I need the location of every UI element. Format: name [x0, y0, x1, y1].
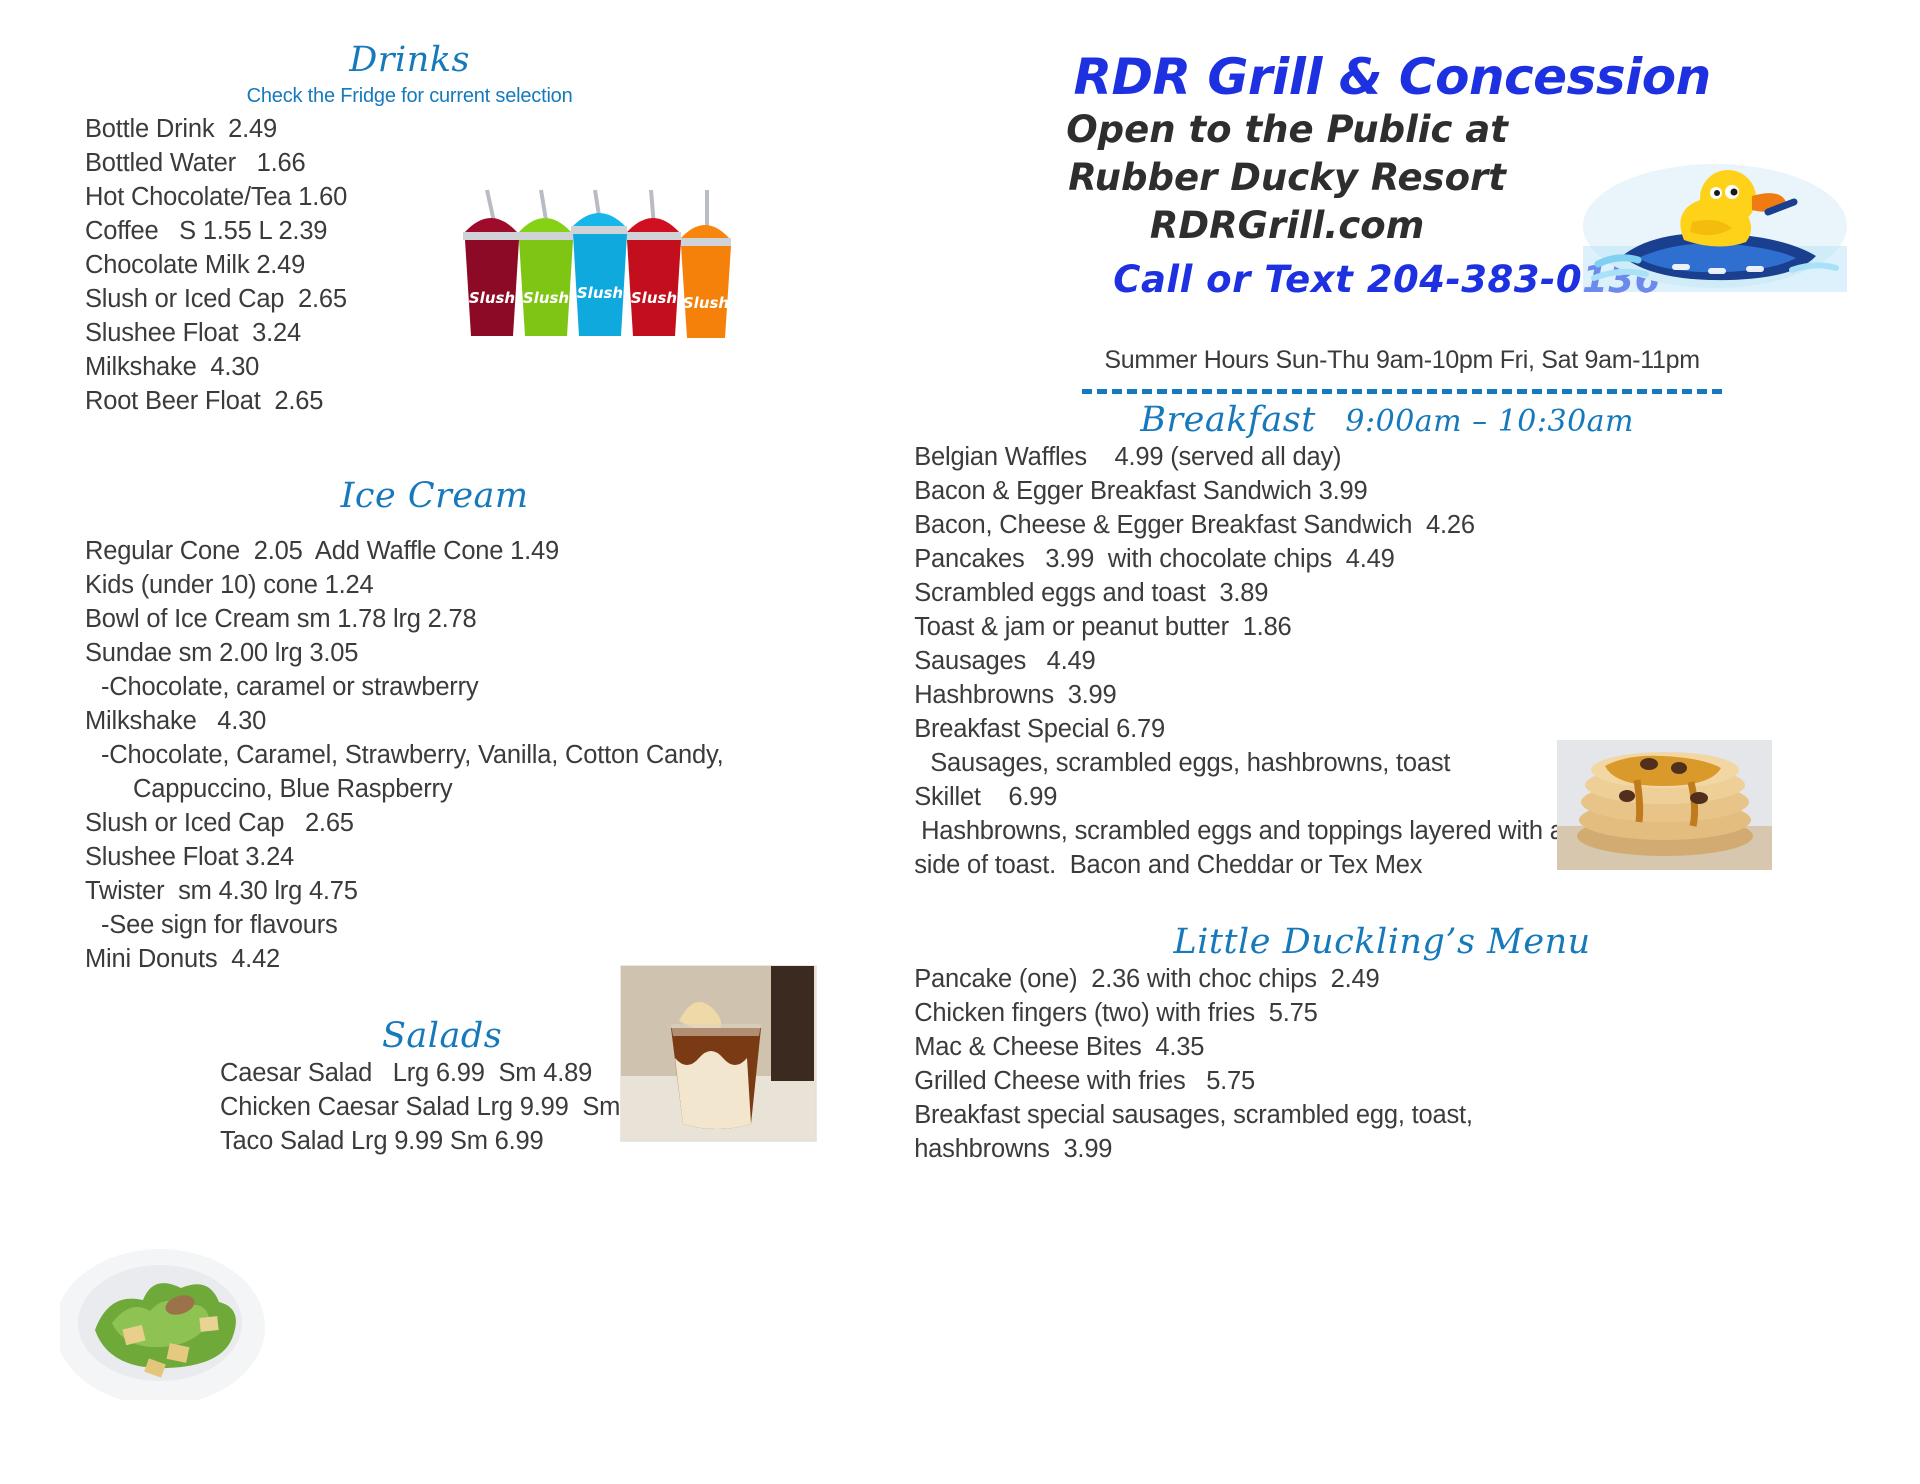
list-item: Sausages 4.49 [914, 644, 1890, 678]
list-item: -See sign for flavours [85, 908, 904, 942]
list-item: Root Beer Float 2.65 [85, 384, 904, 418]
ice-cream-section-header: Ice Cream [85, 476, 904, 516]
list-item: Bottle Drink 2.49 [85, 112, 904, 146]
list-item: Toast & jam or peanut butter 1.86 [914, 610, 1890, 644]
list-item: hashbrowns 3.99 [914, 1132, 1890, 1166]
list-item: Kids (under 10) cone 1.24 [85, 568, 904, 602]
list-item: Grilled Cheese with fries 5.75 [914, 1064, 1890, 1098]
list-item: Pancakes 3.99 with chocolate chips 4.49 [914, 542, 1890, 576]
section-divider [1082, 389, 1722, 394]
summer-hours: Summer Hours Sun-Thu 9am-10pm Fri, Sat 9… [914, 346, 1890, 375]
left-column: Drinks Check the Fridge for current sele… [30, 40, 904, 1464]
list-item: Bowl of Ice Cream sm 1.78 lrg 2.78 [85, 602, 904, 636]
list-item: Regular Cone 2.05 Add Waffle Cone 1.49 [85, 534, 904, 568]
rubber-duck-icon [1580, 160, 1850, 295]
list-item: Bacon, Cheese & Egger Breakfast Sandwich… [914, 508, 1890, 542]
list-item: Twister sm 4.30 lrg 4.75 [85, 874, 904, 908]
list-item: Slushee Float 3.24 [85, 840, 904, 874]
brand-header: RDR Grill & Concession Open to the Publi… [914, 40, 1890, 338]
svg-text:Slush: Slush [577, 284, 623, 302]
right-column: RDR Grill & Concession Open to the Publi… [904, 40, 1890, 1464]
breakfast-section-header: Breakfast 9:00am – 10:30am [914, 400, 1890, 440]
list-item: Breakfast special sausages, scrambled eg… [914, 1098, 1890, 1132]
breakfast-heading: Breakfast [1140, 400, 1316, 440]
list-item: -Chocolate, Caramel, Strawberry, Vanilla… [85, 738, 904, 772]
drinks-section-header: Drinks Check the Fridge for current sele… [85, 40, 904, 108]
list-item: Milkshake 4.30 [85, 350, 904, 384]
list-item: -Chocolate, caramel or strawberry [85, 670, 904, 704]
list-item: Cappuccino, Blue Raspberry [85, 772, 904, 806]
twister-sundae-photo [620, 965, 817, 1142]
brand-tagline-1: Open to the Public at [914, 106, 1890, 154]
brand-title: RDR Grill & Concession [914, 48, 1890, 106]
ice-cream-heading: Ice Cream [85, 476, 784, 516]
kids-heading: Little Duckling’s Menu [914, 922, 1890, 962]
list-item: Belgian Waffles 4.99 (served all day) [914, 440, 1890, 474]
list-item: Mac & Cheese Bites 4.35 [914, 1030, 1890, 1064]
list-item: Milkshake 4.30 [85, 704, 904, 738]
list-item: Pancake (one) 2.36 with choc chips 2.49 [914, 962, 1890, 996]
list-item: Sundae sm 2.00 lrg 3.05 [85, 636, 904, 670]
caesar-salad-photo [60, 1235, 275, 1400]
drinks-heading: Drinks [85, 40, 734, 80]
list-item: Bacon & Egger Breakfast Sandwich 3.99 [914, 474, 1890, 508]
list-item: Bottled Water 1.66 [85, 146, 904, 180]
svg-text:Slush: Slush [523, 289, 569, 307]
kids-list: Pancake (one) 2.36 with choc chips 2.49 … [914, 962, 1890, 1166]
list-item: Chicken fingers (two) with fries 5.75 [914, 996, 1890, 1030]
svg-text:Slush: Slush [469, 289, 515, 307]
list-item: Hashbrowns 3.99 [914, 678, 1890, 712]
ice-cream-list: Regular Cone 2.05 Add Waffle Cone 1.49 K… [85, 534, 904, 976]
svg-text:Slush: Slush [631, 289, 677, 307]
list-item: Scrambled eggs and toast 3.89 [914, 576, 1890, 610]
svg-text:Slush: Slush [683, 294, 729, 312]
slushies-photo: Slush Slush Slush Slush Slush [455, 188, 740, 343]
list-item: Slush or Iced Cap 2.65 [85, 806, 904, 840]
menu-page: Drinks Check the Fridge for current sele… [0, 0, 1920, 1484]
pancakes-photo [1557, 740, 1772, 870]
breakfast-hours: 9:00am – 10:30am [1327, 404, 1634, 439]
drinks-note: Check the Fridge for current selection [85, 85, 734, 108]
